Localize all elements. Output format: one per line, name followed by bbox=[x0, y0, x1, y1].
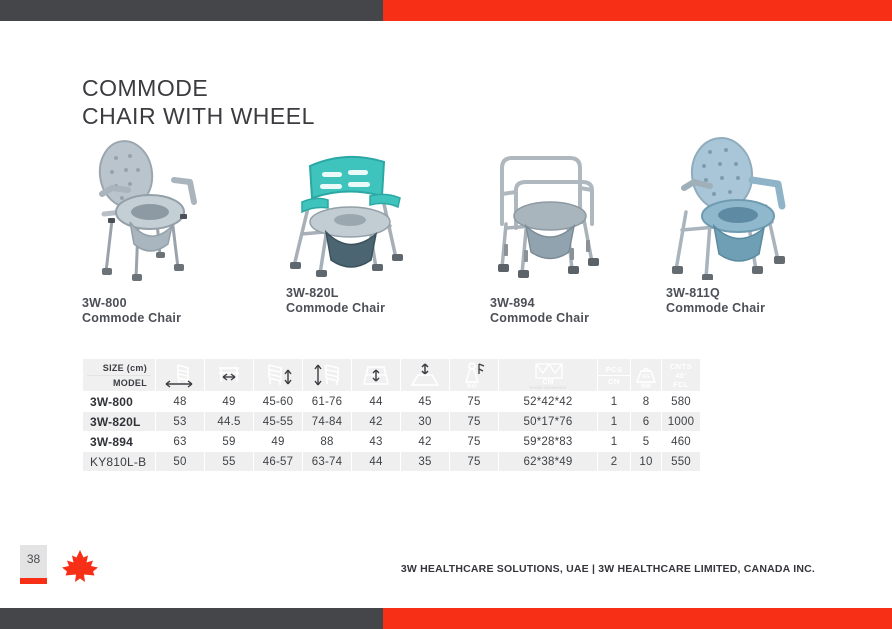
cell-back-height: 42 bbox=[401, 432, 449, 451]
header-cell-width bbox=[156, 359, 204, 391]
header-cell-total-height bbox=[303, 359, 351, 391]
cell-capacity: 75 bbox=[450, 432, 498, 451]
page-title: COMMODE CHAIR WITH WHEEL bbox=[82, 74, 315, 130]
product-caption-1: 3W-800 Commode Chair bbox=[82, 296, 181, 326]
table-row: 3W-800 48 49 45-60 61-76 44 45 75 52*42*… bbox=[83, 392, 700, 411]
cell-seat-height: 49 bbox=[254, 432, 302, 451]
cell-net-weight: 10 bbox=[631, 452, 661, 471]
page-number-accent-bar bbox=[20, 578, 47, 584]
product-caption-4: 3W-811Q Commode Chair bbox=[666, 286, 765, 316]
cell-total-height: 74-84 bbox=[303, 412, 351, 431]
cell-carton-size: 52*42*42 bbox=[499, 392, 597, 411]
carton-box-icon: CM Inside dimension bbox=[499, 359, 597, 391]
header-model-label: MODEL bbox=[87, 376, 151, 390]
product-code-3: 3W-894 bbox=[490, 296, 589, 311]
cell-model: 3W-800 bbox=[83, 392, 155, 411]
cell-pcs-cn: 1 bbox=[598, 432, 630, 451]
product-card-4: 3W-811Q Commode Chair bbox=[652, 130, 802, 280]
cell-pcs-cn: 1 bbox=[598, 392, 630, 411]
cell-depth: 44 bbox=[352, 452, 400, 471]
cell-seat-height: 45-55 bbox=[254, 412, 302, 431]
cell-carton-size: 50*17*76 bbox=[499, 412, 597, 431]
cell-capacity: 75 bbox=[450, 452, 498, 471]
product-caption-3: 3W-894 Commode Chair bbox=[490, 296, 589, 326]
cell-depth: 44 bbox=[352, 392, 400, 411]
cell-back-height: 45 bbox=[401, 392, 449, 411]
specification-table: SIZE (cm) MODEL bbox=[82, 358, 701, 472]
product-card-2: 3W-820L Commode Chair bbox=[272, 130, 422, 280]
header-cell-model: SIZE (cm) MODEL bbox=[83, 359, 155, 391]
cell-seat-width: 59 bbox=[205, 432, 253, 451]
table-row: 3W-820L 53 44.5 45-55 74-84 42 30 75 50*… bbox=[83, 412, 700, 431]
bottom-bar-dark-segment bbox=[0, 608, 383, 629]
cell-net-weight: 5 bbox=[631, 432, 661, 451]
header-cell-pcs-cn: PCS CN bbox=[598, 359, 630, 391]
product-gallery: 3W-800 Commode Chair bbox=[0, 132, 892, 332]
header-cell-capacity: KG bbox=[450, 359, 498, 391]
svg-text:Inside dimension: Inside dimension bbox=[530, 385, 567, 389]
header-size-label: SIZE (cm) bbox=[87, 361, 151, 376]
product-card-1: 3W-800 Commode Chair bbox=[68, 132, 218, 282]
commode-chair-blue-padded-photo bbox=[652, 130, 802, 280]
top-bar bbox=[0, 0, 892, 21]
commode-chair-grey-padded-photo bbox=[68, 132, 218, 282]
cell-width: 63 bbox=[156, 432, 204, 451]
bottom-bar-red-segment bbox=[383, 608, 892, 629]
cell-total-height: 88 bbox=[303, 432, 351, 451]
product-caption-2: 3W-820L Commode Chair bbox=[286, 286, 385, 316]
product-name-4: Commode Chair bbox=[666, 301, 765, 316]
top-bar-red-segment bbox=[383, 0, 892, 21]
header-cell-depth bbox=[352, 359, 400, 391]
product-code-4: 3W-811Q bbox=[666, 286, 765, 301]
header-cell-carton-size: CM Inside dimension bbox=[499, 359, 597, 391]
cell-cnts-fcl: 550 bbox=[662, 452, 700, 471]
catalog-page: COMMODE CHAIR WITH WHEEL bbox=[0, 0, 892, 629]
cell-back-height: 35 bbox=[401, 452, 449, 471]
cell-seat-width: 55 bbox=[205, 452, 253, 471]
cell-model: 3W-820L bbox=[83, 412, 155, 431]
cell-net-weight: 6 bbox=[631, 412, 661, 431]
cell-model: KY810L-B bbox=[83, 452, 155, 471]
seat-height-icon bbox=[254, 359, 302, 391]
svg-text:NW: NW bbox=[641, 384, 651, 389]
cell-cnts-fcl: 1000 bbox=[662, 412, 700, 431]
cell-model: 3W-894 bbox=[83, 432, 155, 451]
page-title-line1: COMMODE bbox=[82, 74, 315, 102]
seat-depth-icon bbox=[352, 359, 400, 391]
cell-seat-width: 44.5 bbox=[205, 412, 253, 431]
cell-cnts-fcl: 460 bbox=[662, 432, 700, 451]
cell-cnts-fcl: 580 bbox=[662, 392, 700, 411]
cell-pcs-cn: 2 bbox=[598, 452, 630, 471]
net-weight-icon: KG NW bbox=[631, 359, 661, 391]
table-header-row: SIZE (cm) MODEL bbox=[83, 359, 700, 391]
cell-pcs-cn: 1 bbox=[598, 412, 630, 431]
table-body: 3W-800 48 49 45-60 61-76 44 45 75 52*42*… bbox=[83, 392, 700, 471]
cell-capacity: 75 bbox=[450, 412, 498, 431]
product-code-2: 3W-820L bbox=[286, 286, 385, 301]
product-name-1: Commode Chair bbox=[82, 311, 181, 326]
cnts-label: CNTS bbox=[662, 362, 700, 371]
cnts-size-label: 40' bbox=[662, 371, 700, 380]
svg-text:KG: KG bbox=[642, 374, 650, 380]
cell-depth: 42 bbox=[352, 412, 400, 431]
table-row: 3W-894 63 59 49 88 43 42 75 59*28*83 1 5… bbox=[83, 432, 700, 451]
footer-company-text: 3W HEALTHCARE SOLUTIONS, UAE | 3W HEALTH… bbox=[0, 563, 872, 575]
cell-width: 50 bbox=[156, 452, 204, 471]
cn-label: CN bbox=[598, 376, 630, 386]
product-name-2: Commode Chair bbox=[286, 301, 385, 316]
cell-total-height: 63-74 bbox=[303, 452, 351, 471]
cell-back-height: 30 bbox=[401, 412, 449, 431]
commode-chair-steel-frame-photo bbox=[476, 132, 626, 282]
cell-seat-width: 49 bbox=[205, 392, 253, 411]
fcl-label: FCL bbox=[662, 380, 700, 389]
cell-carton-size: 62*38*49 bbox=[499, 452, 597, 471]
seat-width-icon bbox=[205, 359, 253, 391]
top-bar-dark-segment bbox=[0, 0, 383, 21]
cell-depth: 43 bbox=[352, 432, 400, 451]
cell-total-height: 61-76 bbox=[303, 392, 351, 411]
bottom-bar bbox=[0, 608, 892, 629]
header-cell-back-height bbox=[401, 359, 449, 391]
cell-seat-height: 45-60 bbox=[254, 392, 302, 411]
page-title-line2: CHAIR WITH WHEEL bbox=[82, 102, 315, 130]
cell-width: 48 bbox=[156, 392, 204, 411]
weight-capacity-icon: KG bbox=[450, 359, 498, 391]
cell-width: 53 bbox=[156, 412, 204, 431]
backrest-height-icon bbox=[401, 359, 449, 391]
header-cell-seat-height bbox=[254, 359, 302, 391]
total-height-icon bbox=[303, 359, 351, 391]
product-code-1: 3W-800 bbox=[82, 296, 181, 311]
product-card-3: 3W-894 Commode Chair bbox=[476, 132, 626, 282]
svg-text:KG: KG bbox=[468, 384, 477, 389]
chair-width-icon bbox=[156, 359, 204, 391]
product-name-3: Commode Chair bbox=[490, 311, 589, 326]
commode-chair-teal-photo bbox=[272, 130, 422, 280]
pcs-label: PCS bbox=[598, 365, 630, 376]
cell-net-weight: 8 bbox=[631, 392, 661, 411]
cell-capacity: 75 bbox=[450, 392, 498, 411]
header-cell-cnts-fcl: CNTS 40' FCL bbox=[662, 359, 700, 391]
table-row: KY810L-B 50 55 46-57 63-74 44 35 75 62*3… bbox=[83, 452, 700, 471]
header-cell-seat-width bbox=[205, 359, 253, 391]
header-cell-net-weight: KG NW bbox=[631, 359, 661, 391]
cell-carton-size: 59*28*83 bbox=[499, 432, 597, 451]
cell-seat-height: 46-57 bbox=[254, 452, 302, 471]
